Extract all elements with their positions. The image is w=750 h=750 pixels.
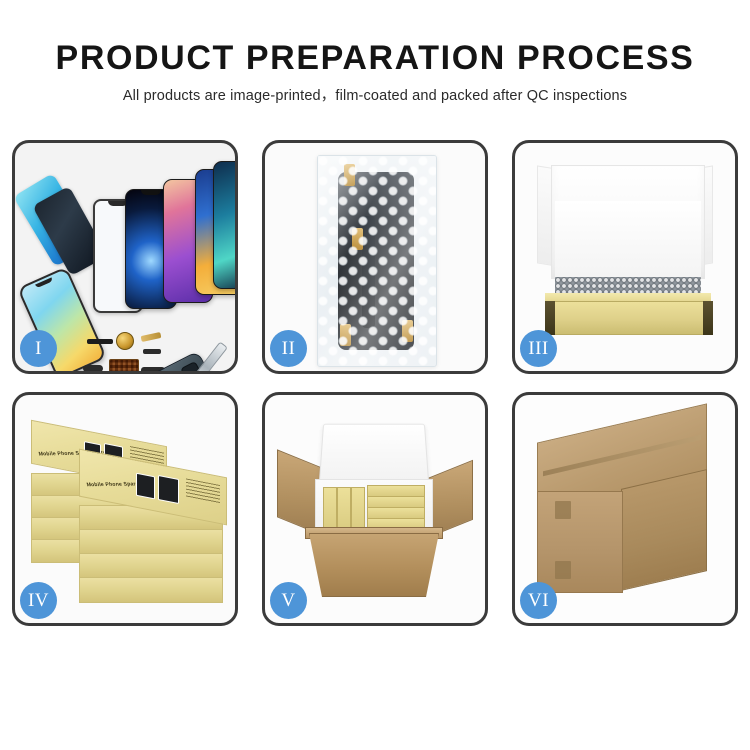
chip-array-component	[109, 359, 139, 371]
stacked-box-r4	[79, 577, 223, 603]
box-window-front-a	[136, 473, 155, 500]
part-flex-cable-b	[83, 365, 103, 371]
process-step-3: III	[512, 140, 738, 374]
bubble-wrap-bag	[317, 155, 437, 367]
carton-front-face	[537, 491, 623, 593]
step-badge-1: I	[20, 330, 57, 367]
process-step-1: I	[12, 140, 238, 374]
foam-sheet-white	[555, 201, 701, 277]
process-step-4: Mobile Phone Spare Parts Mobile Phone Sp…	[12, 392, 238, 626]
foam-lid-open	[319, 424, 430, 485]
box-spec-lines-front	[186, 478, 220, 505]
yellow-box-tray	[545, 301, 713, 335]
step-badge-6: VI	[520, 582, 557, 619]
process-step-6: VI	[512, 392, 738, 626]
step-badge-3: III	[520, 330, 557, 367]
carton-body	[309, 533, 439, 597]
carton-tape-upper	[555, 501, 571, 519]
page-header: PRODUCT PREPARATION PROCESS All products…	[0, 0, 750, 105]
plastic-sheen-overlay	[318, 156, 436, 366]
part-connector-strip	[87, 339, 113, 344]
stacked-box-r2	[79, 529, 223, 555]
process-step-5: V	[262, 392, 488, 626]
part-flex-cable-gold	[141, 332, 162, 342]
stacked-box-r3	[79, 553, 223, 579]
step-badge-4: IV	[20, 582, 57, 619]
part-flex-cable-a	[143, 349, 161, 354]
phone-screen-teal	[213, 161, 235, 289]
step-badge-5: V	[270, 582, 307, 619]
page-title: PRODUCT PREPARATION PROCESS	[0, 38, 750, 78]
box-window-front-b	[158, 475, 179, 504]
page-subtitle: All products are image-printed，film-coat…	[0, 87, 750, 105]
carton-tape-lower	[555, 561, 571, 579]
process-step-2: II	[262, 140, 488, 374]
process-step-grid: I II III	[12, 140, 738, 626]
step-badge-2: II	[270, 330, 307, 367]
carton-side-face	[621, 469, 707, 591]
speaker-module-gold	[116, 332, 134, 350]
